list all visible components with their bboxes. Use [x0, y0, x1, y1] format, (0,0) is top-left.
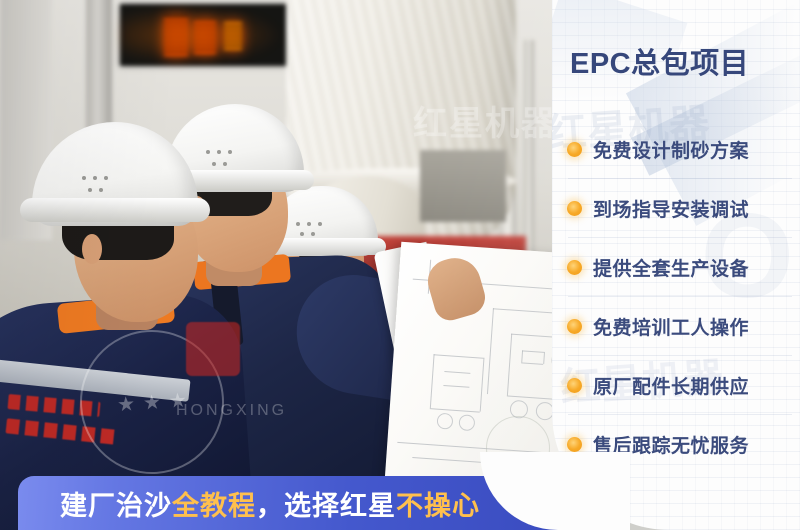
bullet-dot-icon [567, 142, 582, 157]
feature-label: 原厂配件长期供应 [593, 372, 749, 399]
slogan-part-two: ，选择红星 [256, 491, 396, 521]
feature-label: 免费设计制砂方案 [593, 136, 749, 163]
bullet-dot-icon [567, 201, 582, 216]
bullet-dot-icon [567, 319, 582, 334]
feature-list: 免费设计制砂方案 到场指导安装调试 提供全套生产设备 免费培训工人操作 原厂配件… [552, 120, 800, 474]
slogan-highlight-one: 全教程 [172, 491, 256, 521]
list-item: 到场指导安装调试 [552, 179, 800, 238]
page-title: EPC总包项目 [570, 40, 782, 82]
bullet-dot-icon [567, 378, 582, 393]
bullet-dot-icon [567, 260, 582, 275]
slogan-text: 建厂治沙全教程，选择红星不操心 [60, 484, 480, 523]
slogan-part-one: 建厂治沙 [60, 491, 172, 521]
info-panel: O 红星机器 红星机器 EPC总包项目 免费设计制砂方案 到场指导安装调试 提供… [552, 0, 800, 530]
feature-label: 提供全套生产设备 [593, 254, 749, 281]
list-item: 提供全套生产设备 [552, 238, 800, 297]
list-item: 原厂配件长期供应 [552, 356, 800, 415]
list-item: 免费培训工人操作 [552, 297, 800, 356]
list-item: 免费设计制砂方案 [552, 120, 800, 179]
feature-label: 到场指导安装调试 [593, 195, 749, 222]
bottom-slogan-banner: 建厂治沙全教程，选择红星不操心 [18, 476, 558, 530]
feature-label: 免费培训工人操作 [593, 313, 749, 340]
photo-shading-overlay [0, 0, 565, 530]
bullet-dot-icon [567, 437, 582, 452]
promo-banner-image: ★ ★ ★ HONGXING 红星机器 O 红星机器 红星机器 EPC总包项目 … [0, 0, 800, 530]
factory-photo: ★ ★ ★ HONGXING 红星机器 [0, 0, 565, 530]
slogan-highlight-two: 不操心 [396, 491, 480, 521]
